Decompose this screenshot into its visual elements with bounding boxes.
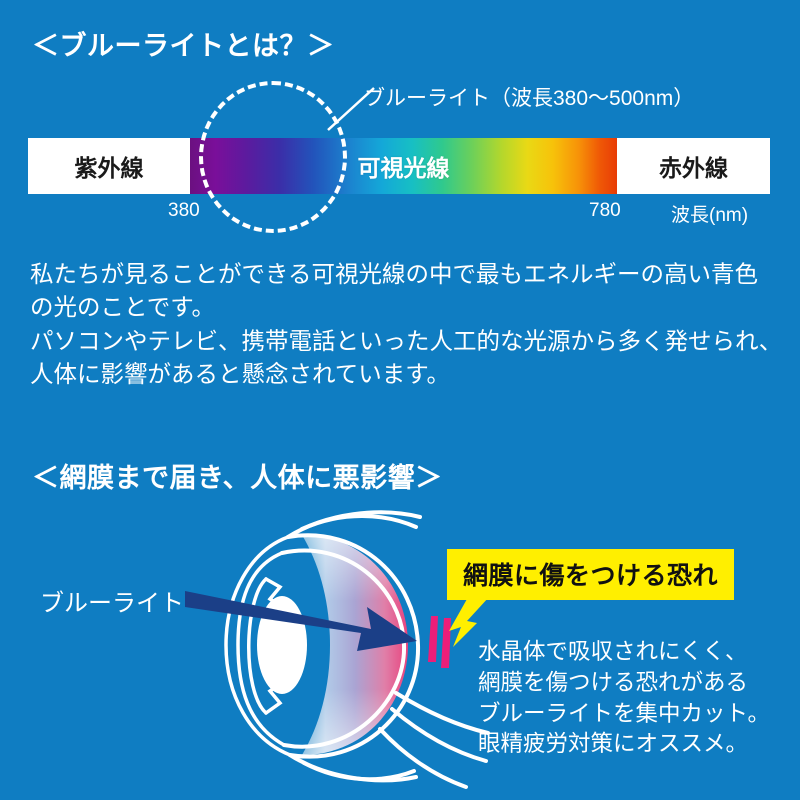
band-label-infrared: 赤外線 xyxy=(617,138,770,194)
spectrum-tick-780: 780 xyxy=(589,200,621,222)
band-label-visible-light: 可視光線 xyxy=(358,149,450,183)
section-heading-retina-damage: ＜網膜まで届き、人体に悪影響＞ xyxy=(32,456,443,495)
intro-line-4: 人体に影響があると懸念されています。 xyxy=(30,358,782,391)
spectrum-tick-380: 380 xyxy=(168,200,200,222)
section-heading-what-is-bluelight: ＜ブルーライトとは？＞ xyxy=(32,24,335,63)
warning-callout-text: 網膜に傷をつける恐れ xyxy=(463,562,718,590)
benefit-line-1: 水晶体で吸収されにくく、 xyxy=(478,637,770,668)
warning-callout-box: 網膜に傷をつける恐れ xyxy=(447,549,734,600)
spectrum-axis-unit: 波長(nm) xyxy=(671,200,748,227)
benefit-line-2: 網膜を傷つける恐れがある xyxy=(478,668,770,699)
benefit-text-block: 水晶体で吸収されにくく、 網膜を傷つける恐れがある ブルーライトを集中カット。 … xyxy=(478,637,770,760)
intro-line-2: の光のことです。 xyxy=(30,291,782,324)
intro-paragraph: 私たちが見ることができる可視光線の中で最もエネルギーの高い青色 の光のことです。… xyxy=(30,258,782,391)
bluelight-range-label: ブルーライト（波長380〜500nm） xyxy=(364,82,694,112)
bluelight-arrow-label: ブルーライト xyxy=(40,583,184,618)
spectrum-bar: 紫外線 可視光線 赤外線 xyxy=(28,138,770,194)
intro-line-3: パソコンやテレビ、携帯電話といった人工的な光源から多く発せられ、 xyxy=(30,325,782,358)
benefit-line-3: ブルーライトを集中カット。 xyxy=(478,699,770,730)
benefit-line-4: 眼精疲労対策にオススメ。 xyxy=(478,729,770,760)
bluelight-arrow-icon xyxy=(185,585,420,655)
infographic-page: ＜ブルーライトとは？＞ ブルーライト（波長380〜500nm） 紫外線 可視光線… xyxy=(0,0,800,800)
dashed-highlight-ellipse xyxy=(199,81,347,233)
band-label-ultraviolet: 紫外線 xyxy=(28,138,190,194)
intro-line-1: 私たちが見ることができる可視光線の中で最もエネルギーの高い青色 xyxy=(30,258,782,291)
